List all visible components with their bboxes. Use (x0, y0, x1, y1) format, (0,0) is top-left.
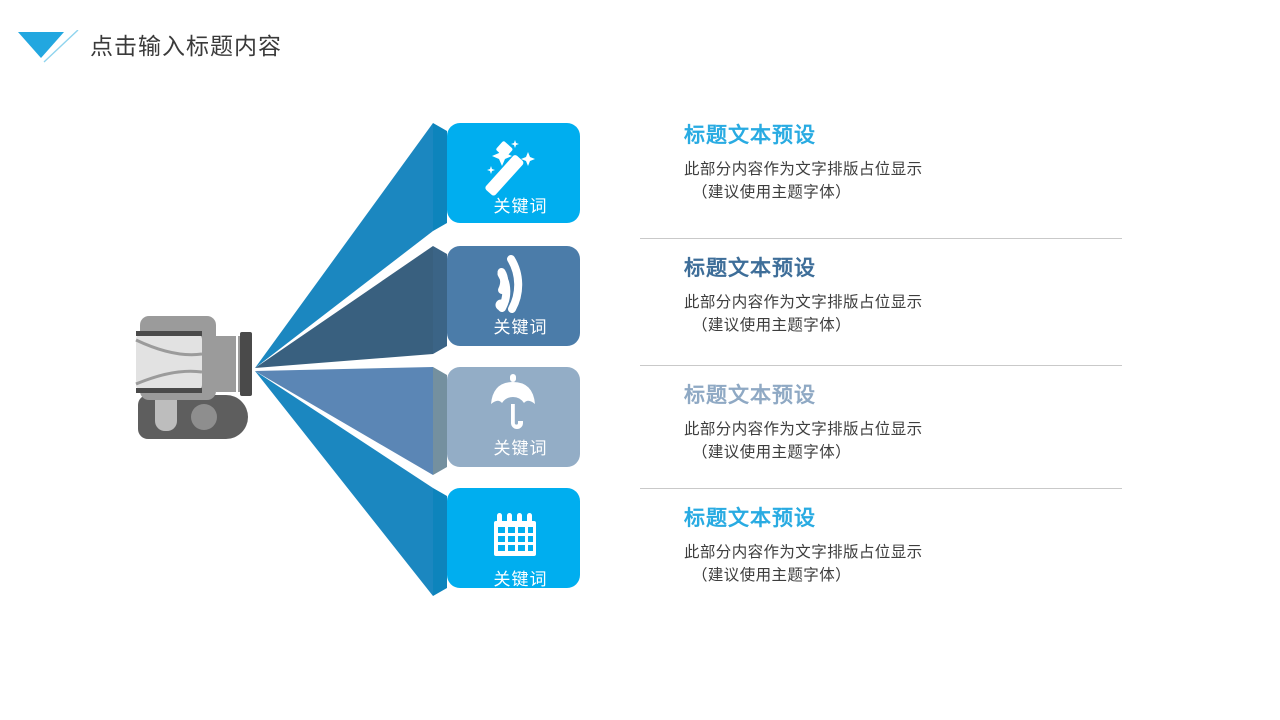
text-block-4-heading: 标题文本预设 (684, 503, 1122, 533)
text-block-1-body-line1: 此部分内容作为文字排版占位显示 (684, 158, 1122, 181)
card-3-bevel (433, 367, 447, 475)
text-block-3: 标题文本预设 此部分内容作为文字排版占位显示 （建议使用主题字体） (640, 366, 1122, 488)
text-block-2-heading: 标题文本预设 (684, 253, 1122, 283)
beam-1 (255, 123, 433, 368)
card-4-bevel (433, 488, 447, 596)
card-1-bevel (433, 123, 447, 231)
text-block-3-body-line2: （建议使用主题字体） (684, 441, 1122, 464)
card-2-label[interactable]: 关键词 (447, 313, 594, 338)
beam-2 (255, 246, 433, 368)
text-block-1-heading: 标题文本预设 (684, 120, 1122, 150)
beam-4 (255, 371, 433, 596)
card-3-label[interactable]: 关键词 (447, 434, 594, 459)
umbrella-icon (491, 374, 535, 429)
calendar-icon (494, 513, 536, 556)
text-block-1-body: 此部分内容作为文字排版占位显示 （建议使用主题字体） (684, 158, 1122, 204)
text-block-2-body: 此部分内容作为文字排版占位显示 （建议使用主题字体） (684, 291, 1122, 337)
text-block-3-body-line1: 此部分内容作为文字排版占位显示 (684, 418, 1122, 441)
text-block-4-body: 此部分内容作为文字排版占位显示 （建议使用主题字体） (684, 541, 1122, 587)
text-block-3-body: 此部分内容作为文字排版占位显示 （建议使用主题字体） (684, 418, 1122, 464)
text-block-2-body-line1: 此部分内容作为文字排版占位显示 (684, 291, 1122, 314)
text-block-4: 标题文本预设 此部分内容作为文字排版占位显示 （建议使用主题字体） (640, 489, 1122, 613)
text-block-1-body-line2: （建议使用主题字体） (684, 181, 1122, 204)
magic-wand-icon (484, 140, 535, 197)
text-block-2-body-line2: （建议使用主题字体） (684, 314, 1122, 337)
text-column: 标题文本预设 此部分内容作为文字排版占位显示 （建议使用主题字体） 标题文本预设… (640, 120, 1122, 613)
page-title: 点击输入标题内容 (90, 30, 282, 64)
text-block-4-body-line2: （建议使用主题字体） (684, 564, 1122, 587)
text-block-3-heading: 标题文本预设 (684, 380, 1122, 410)
triangle-down-icon (18, 30, 80, 64)
rss-signal-icon-outer (511, 259, 518, 309)
slide-header: 点击输入标题内容 (0, 0, 1280, 95)
text-block-2: 标题文本预设 此部分内容作为文字排版占位显示 （建议使用主题字体） (640, 239, 1122, 365)
card-2-bevel (433, 246, 447, 354)
rss-dot-icon (496, 300, 507, 311)
text-block-4-body-line1: 此部分内容作为文字排版占位显示 (684, 541, 1122, 564)
projector-camera-icon (136, 316, 252, 439)
card-4-label[interactable]: 关键词 (447, 565, 594, 590)
card-1-label[interactable]: 关键词 (447, 192, 594, 217)
logo (18, 30, 80, 64)
beam-group (255, 123, 433, 596)
text-block-1: 标题文本预设 此部分内容作为文字排版占位显示 （建议使用主题字体） (640, 120, 1122, 238)
rss-signal-icon (502, 272, 507, 308)
beam-3 (255, 367, 433, 475)
